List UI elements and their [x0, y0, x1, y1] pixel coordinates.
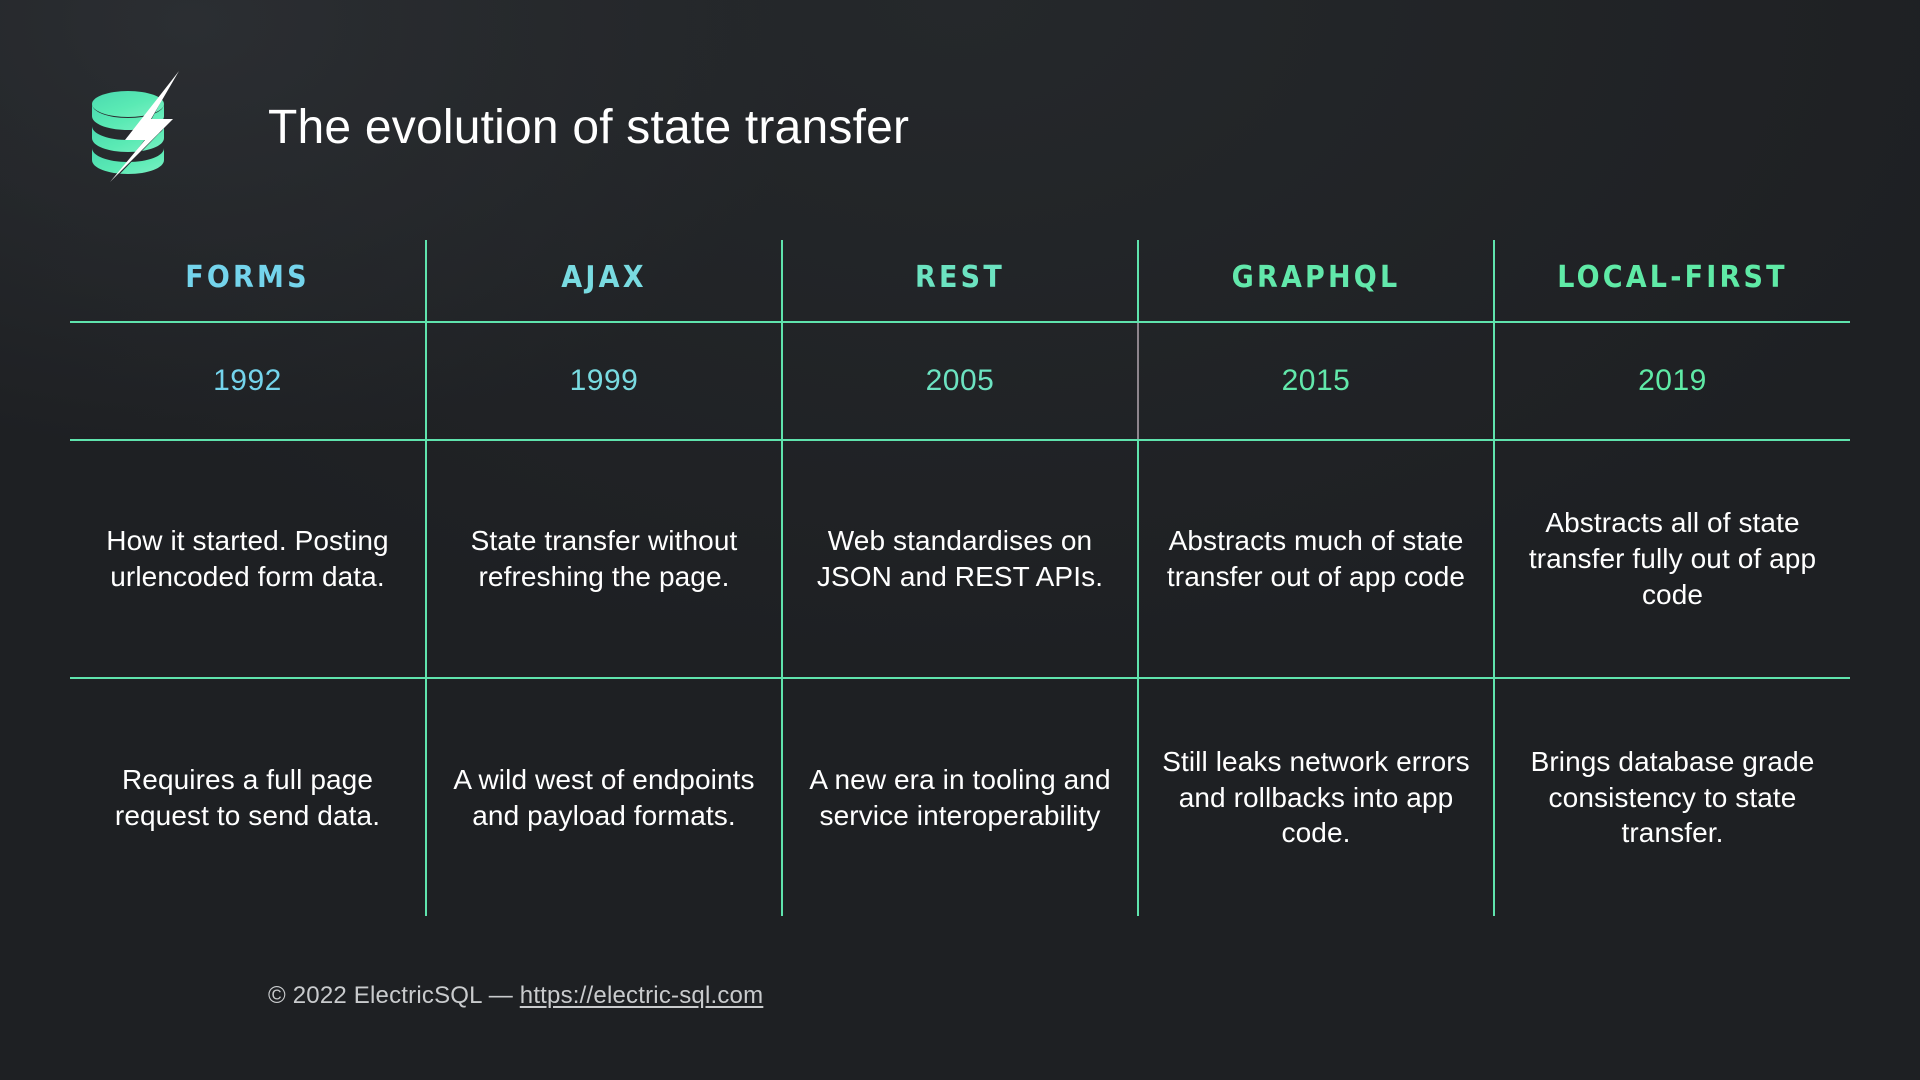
- year-label: 2005: [797, 364, 1123, 398]
- footer: © 2022 ElectricSQL — https://electric-sq…: [268, 982, 763, 1010]
- column-header-label: REST: [797, 260, 1123, 295]
- table-tradeoff-row: Requires a full page request to send dat…: [70, 678, 1850, 916]
- tradeoff-cell-graphql: Still leaks network errors and rollbacks…: [1138, 678, 1494, 916]
- website-link[interactable]: https://electric-sql.com: [520, 982, 764, 1009]
- table-description-row: How it started. Posting urlencoded form …: [70, 440, 1850, 678]
- electricsql-logo-icon: [84, 66, 192, 184]
- description-text: How it started. Posting urlencoded form …: [86, 523, 409, 595]
- tradeoff-cell-forms: Requires a full page request to send dat…: [70, 678, 426, 916]
- description-cell-forms: How it started. Posting urlencoded form …: [70, 440, 426, 678]
- table-header-row: FORMS AJAX REST GRAPHQL LOCAL-FIRST: [70, 240, 1850, 322]
- table: FORMS AJAX REST GRAPHQL LOCAL-FIRST 1992: [70, 240, 1850, 916]
- description-text: Abstracts much of state transfer out of …: [1155, 523, 1477, 595]
- year-label: 2015: [1153, 364, 1479, 398]
- column-header-local-first: LOCAL-FIRST: [1494, 240, 1850, 322]
- column-header-label: AJAX: [441, 260, 767, 295]
- year-label: 1992: [84, 364, 411, 398]
- page-title: The evolution of state transfer: [268, 100, 909, 155]
- column-header-label: GRAPHQL: [1153, 260, 1479, 295]
- year-cell-graphql: 2015: [1138, 322, 1494, 440]
- description-cell-local-first: Abstracts all of state transfer fully ou…: [1494, 440, 1850, 678]
- year-cell-ajax: 1999: [426, 322, 782, 440]
- description-cell-graphql: Abstracts much of state transfer out of …: [1138, 440, 1494, 678]
- tradeoff-text: A wild west of endpoints and payload for…: [443, 762, 765, 834]
- tradeoff-text: A new era in tooling and service interop…: [799, 762, 1121, 834]
- column-header-label: LOCAL-FIRST: [1509, 260, 1836, 295]
- year-cell-local-first: 2019: [1494, 322, 1850, 440]
- column-header-label: FORMS: [84, 260, 411, 295]
- year-cell-forms: 1992: [70, 322, 426, 440]
- year-label: 2019: [1509, 364, 1836, 398]
- column-header-forms: FORMS: [70, 240, 426, 322]
- description-text: State transfer without refreshing the pa…: [443, 523, 765, 595]
- year-label: 1999: [441, 364, 767, 398]
- page-header: The evolution of state transfer: [0, 0, 1920, 210]
- tradeoff-text: Still leaks network errors and rollbacks…: [1155, 744, 1477, 851]
- column-header-rest: REST: [782, 240, 1138, 322]
- table-year-row: 1992 1999 2005 2015 2019: [70, 322, 1850, 440]
- tradeoff-cell-rest: A new era in tooling and service interop…: [782, 678, 1138, 916]
- column-header-graphql: GRAPHQL: [1138, 240, 1494, 322]
- tradeoff-text: Requires a full page request to send dat…: [86, 762, 409, 834]
- tradeoff-cell-local-first: Brings database grade consistency to sta…: [1494, 678, 1850, 916]
- description-text: Web standardises on JSON and REST APIs.: [799, 523, 1121, 595]
- evolution-table: FORMS AJAX REST GRAPHQL LOCAL-FIRST 1992: [70, 240, 1850, 920]
- copyright-text: © 2022 ElectricSQL —: [268, 982, 520, 1009]
- column-header-ajax: AJAX: [426, 240, 782, 322]
- description-cell-rest: Web standardises on JSON and REST APIs.: [782, 440, 1138, 678]
- year-cell-rest: 2005: [782, 322, 1138, 440]
- description-cell-ajax: State transfer without refreshing the pa…: [426, 440, 782, 678]
- tradeoff-text: Brings database grade consistency to sta…: [1511, 744, 1834, 851]
- tradeoff-cell-ajax: A wild west of endpoints and payload for…: [426, 678, 782, 916]
- description-text: Abstracts all of state transfer fully ou…: [1511, 505, 1834, 612]
